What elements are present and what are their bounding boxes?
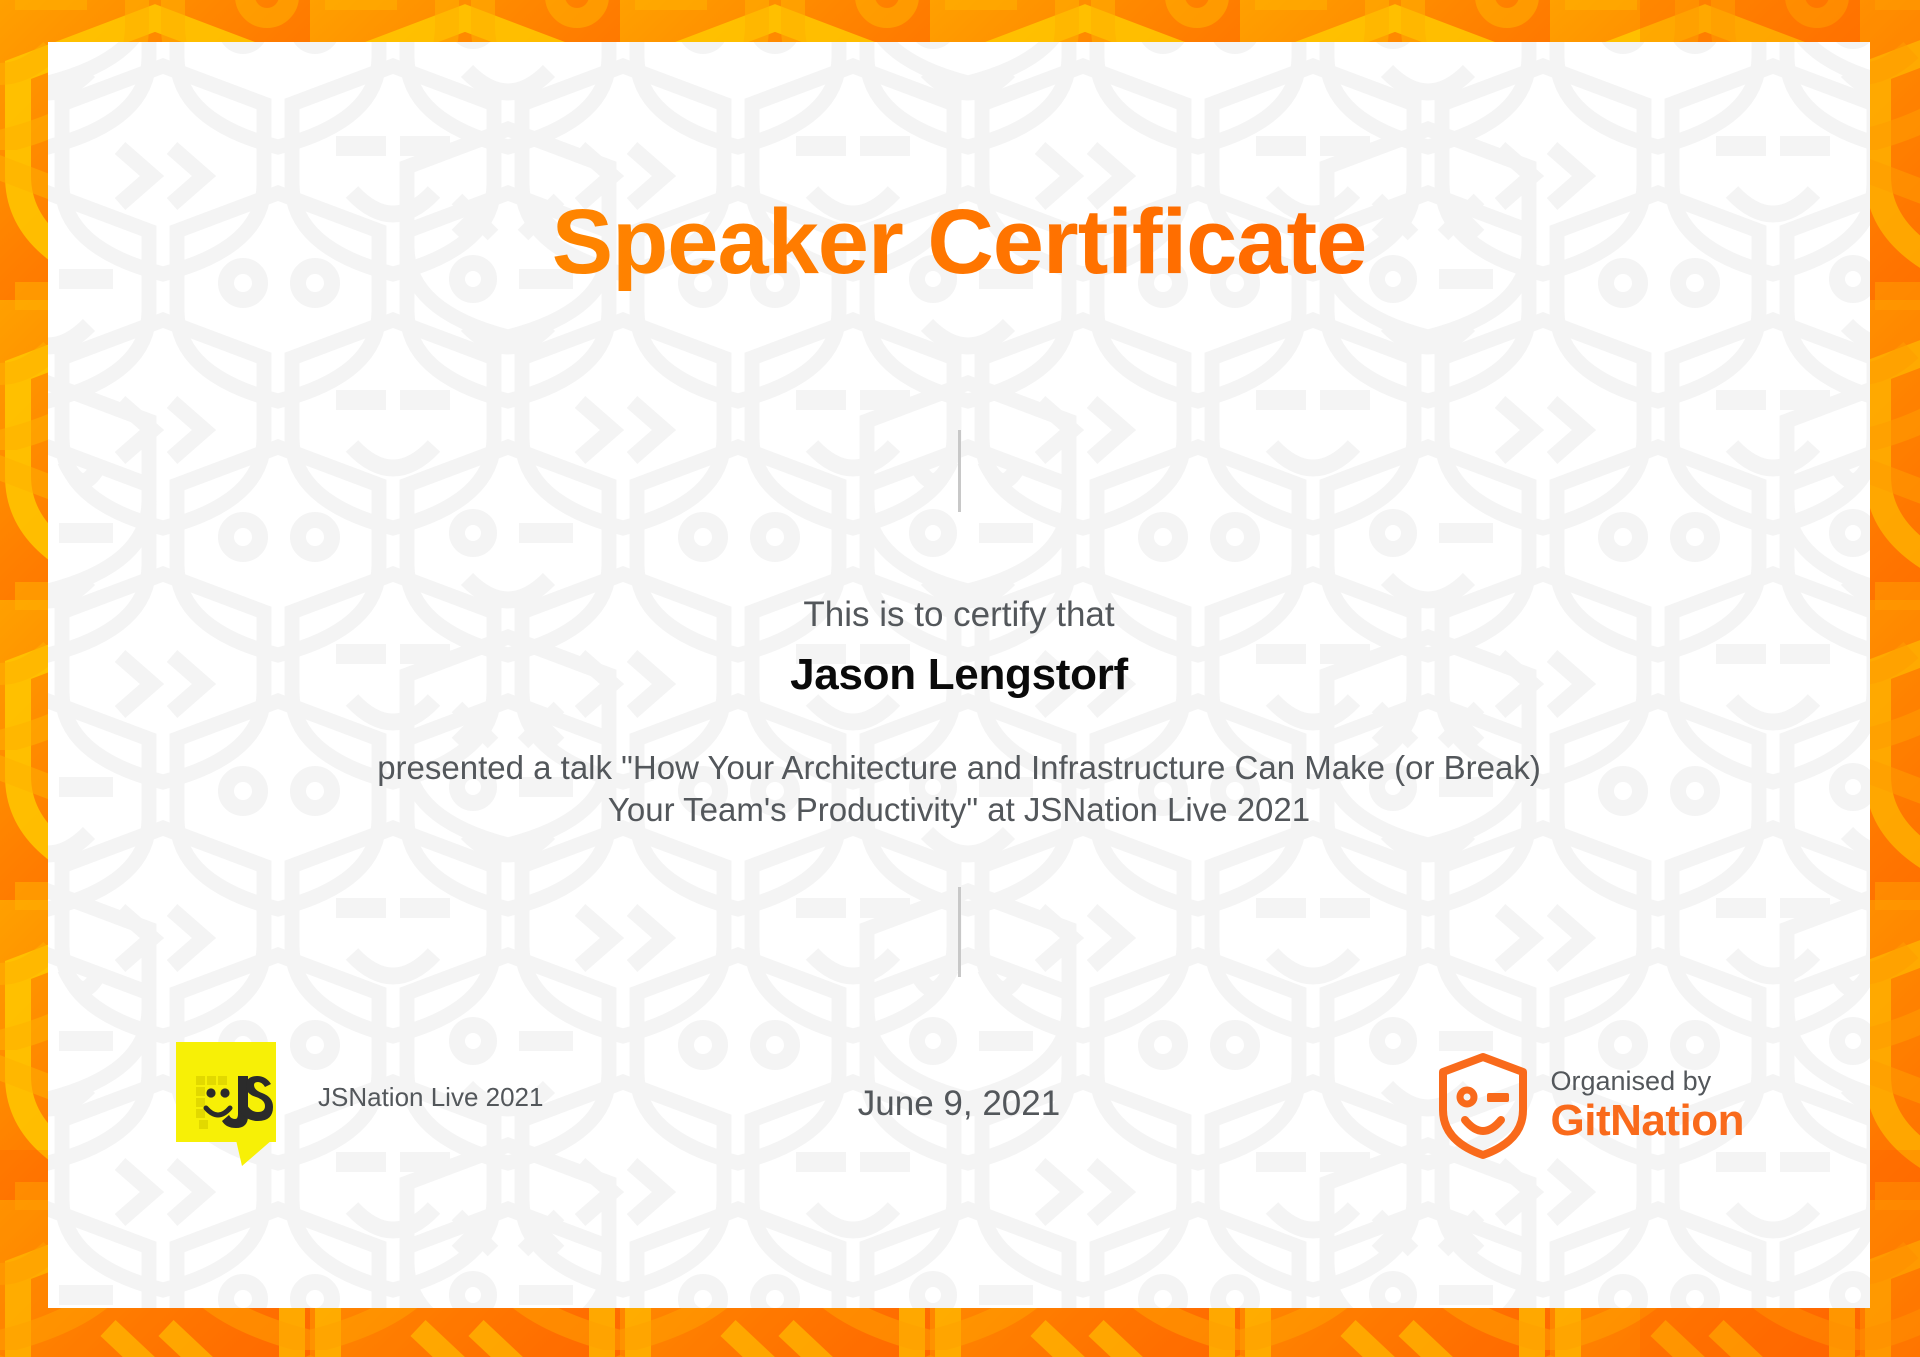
certificate-card: Speaker Certificate This is to certify t…: [48, 42, 1870, 1308]
talk-description: presented a talk "How Your Architecture …: [198, 747, 1720, 830]
certificate-footer: JSNation Live 2021 June 9, 2021 Organise…: [48, 1042, 1870, 1222]
organised-by-label: Organised by: [1551, 1066, 1744, 1096]
talk-line-1: presented a talk "How Your Architecture …: [198, 747, 1720, 789]
certify-line: This is to certify that: [48, 595, 1870, 635]
divider-bottom: [958, 887, 961, 977]
page-title: Speaker Certificate: [48, 194, 1870, 291]
gitnation-shield-mask-icon: [1437, 1052, 1529, 1160]
organiser-block: Organised by GitNation: [1437, 1052, 1744, 1160]
organiser-name: GitNation: [1551, 1096, 1744, 1145]
divider-top: [958, 430, 961, 512]
talk-line-2: Your Team's Productivity" at JSNation Li…: [198, 789, 1720, 831]
recipient-name: Jason Lengstorf: [48, 650, 1870, 700]
speaker-certificate: Speaker Certificate This is to certify t…: [0, 0, 1920, 1357]
